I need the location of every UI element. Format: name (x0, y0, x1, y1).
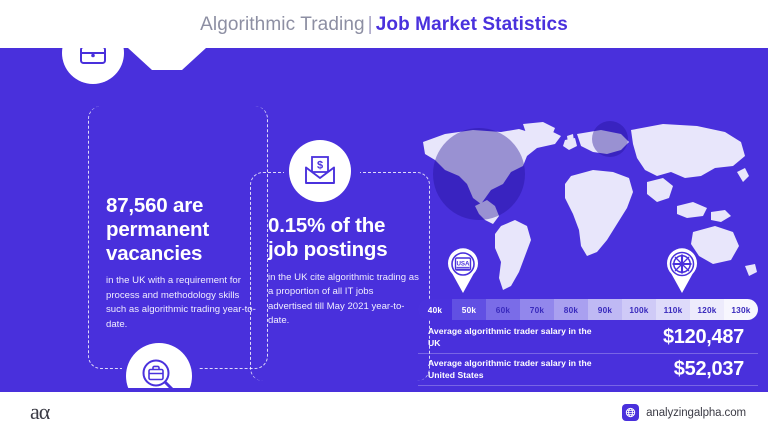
globe-icon (622, 404, 639, 421)
scale-segment: 70k (520, 299, 554, 320)
brand-logo: aα (30, 399, 49, 425)
scale-segment: 100k (622, 299, 656, 320)
usa-pin[interactable]: USA (444, 246, 482, 299)
stat-1-headline: 87,560 are permanent vacancies (106, 194, 256, 265)
table-row: Average algorithmic trader salary in the… (418, 354, 758, 386)
svg-text:$: $ (317, 160, 323, 172)
stat-2-headline: 0.15% of the job postings (268, 214, 420, 262)
scale-segment: 90k (588, 299, 622, 320)
svg-text:USA: USA (456, 261, 470, 268)
stat-block-1: 87,560 are permanent vacancies in the UK… (106, 194, 256, 333)
stat-2-body: in the UK cite algorithmic trading as a … (268, 271, 420, 329)
footer-site-label: analyzingalpha.com (646, 407, 746, 419)
uk-highlight (592, 121, 628, 157)
footer: aα analyzingalpha.com (0, 392, 768, 432)
scale-segment: 80k (554, 299, 588, 320)
row-value: $120,487 (663, 326, 758, 349)
north-america-highlight (433, 128, 525, 220)
uk-pin[interactable] (663, 246, 701, 299)
page-title-separator: | (365, 14, 376, 35)
scale-segment: 120k (690, 299, 724, 320)
scale-segment: 50k (452, 299, 486, 320)
row-value: $52,037 (674, 358, 758, 381)
row-label: Average algorithmic trader salary in the… (418, 358, 603, 382)
envelope-dollar-icon: $ (289, 140, 351, 202)
scale-segment: 110k (656, 299, 690, 320)
header: Algorithmic Trading|Job Market Statistic… (0, 0, 768, 48)
page-title-main: Job Market Statistics (376, 14, 568, 35)
footer-accent-bar (0, 388, 768, 392)
scale-segment: 130k (724, 299, 758, 320)
body-panel: USA 40k 50k 60k 70k 80k 90k 100k 110k 1 (0, 44, 768, 392)
page-title-prefix: Algorithmic Trading (200, 14, 365, 35)
scale-segment: 40k (418, 299, 452, 320)
table-row: Average algorithmic trader salary in the… (418, 322, 758, 354)
infographic-page: Algorithmic Trading|Job Market Statistic… (0, 0, 768, 432)
page-title: Algorithmic Trading|Job Market Statistic… (0, 14, 768, 36)
stat-1-body: in the UK with a requirement for process… (106, 274, 256, 332)
stat-block-2: 0.15% of the job postings in the UK cite… (268, 214, 420, 329)
footer-site[interactable]: analyzingalpha.com (622, 404, 746, 421)
row-label: Average algorithmic trader salary in the… (418, 326, 603, 350)
salary-scale-bar: 40k 50k 60k 70k 80k 90k 100k 110k 120k 1… (418, 299, 758, 320)
scale-segment: 60k (486, 299, 520, 320)
